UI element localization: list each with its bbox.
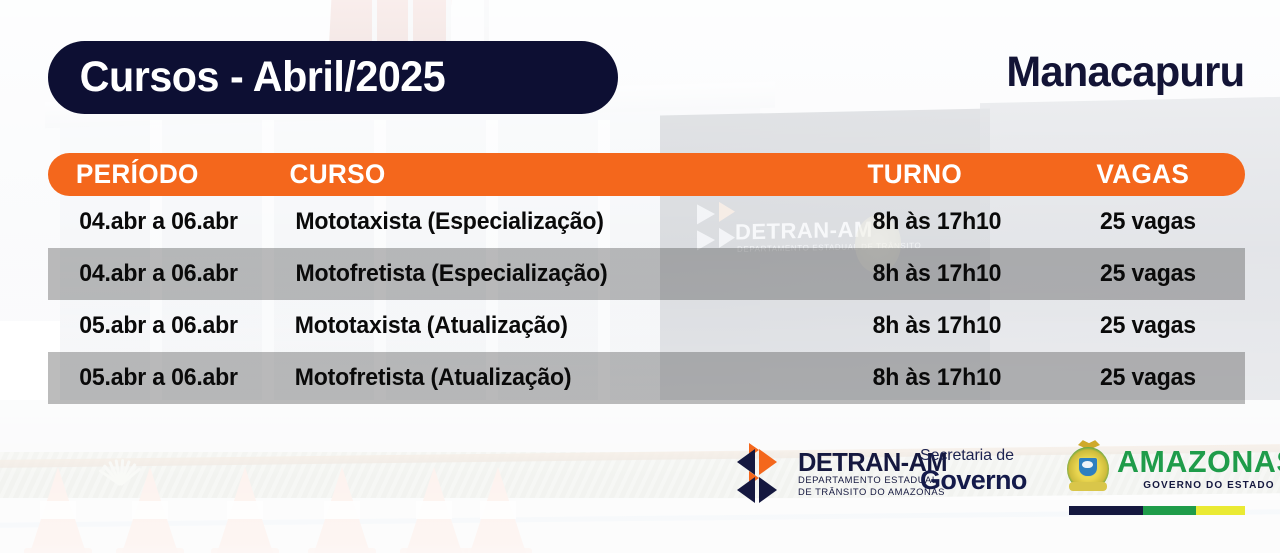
amazonas-logo-name: AMAZONAS bbox=[1117, 446, 1280, 477]
cell-curso: Motofretista (Atualização) bbox=[295, 352, 572, 404]
detran-am-logo: DETRAN-AM DEPARTAMENTO ESTADUAL DE TRÂNS… bbox=[735, 443, 950, 505]
cell-periodo: 05.abr a 06.abr bbox=[79, 352, 238, 404]
cell-curso: Motofretista (Especialização) bbox=[295, 248, 607, 300]
cell-turno: 8h às 17h10 bbox=[873, 300, 1002, 352]
cell-vagas: 25 vagas bbox=[1100, 352, 1196, 404]
amazonas-coat-of-arms-icon bbox=[1063, 439, 1113, 497]
cell-turno: 8h às 17h10 bbox=[873, 248, 1002, 300]
cell-turno: 8h às 17h10 bbox=[873, 352, 1002, 404]
cell-periodo: 04.abr a 06.abr bbox=[79, 196, 238, 248]
column-header-vagas: VAGAS bbox=[1096, 153, 1189, 196]
amazonas-government-logo: AMAZONAS GOVERNO DO ESTADO bbox=[1063, 439, 1245, 515]
table-row: 04.abr a 06.abr Mototaxista (Especializa… bbox=[48, 196, 1245, 248]
city-name: Manacapuru bbox=[1006, 48, 1244, 97]
cell-curso: Mototaxista (Atualização) bbox=[295, 300, 568, 352]
detran-arrow-marks-icon bbox=[735, 443, 795, 505]
title-pill: Cursos - Abril/2025 bbox=[48, 41, 618, 114]
cell-vagas: 25 vagas bbox=[1100, 300, 1196, 352]
column-header-curso: CURSO bbox=[289, 153, 385, 196]
cell-curso: Mototaxista (Especialização) bbox=[295, 196, 603, 248]
secretaria-line2: Governo bbox=[920, 466, 1027, 494]
cell-vagas: 25 vagas bbox=[1100, 196, 1196, 248]
column-header-periodo: PERÍODO bbox=[76, 153, 199, 196]
table-row: 05.abr a 06.abr Motofretista (Atualizaçã… bbox=[48, 352, 1245, 404]
column-header-turno: TURNO bbox=[867, 153, 962, 196]
page-title: Cursos - Abril/2025 bbox=[48, 53, 445, 102]
cell-periodo: 04.abr a 06.abr bbox=[79, 248, 238, 300]
courses-table: PERÍODO CURSO TURNO VAGAS 04.abr a 06.ab… bbox=[48, 153, 1245, 404]
amazonas-logo-sub: GOVERNO DO ESTADO bbox=[1117, 480, 1280, 491]
footer-logos: DETRAN-AM DEPARTAMENTO ESTADUAL DE TRÂNS… bbox=[0, 439, 1280, 519]
secretaria-governo-logo: Secretaria de Governo bbox=[920, 447, 1027, 494]
table-row: 05.abr a 06.abr Mototaxista (Atualização… bbox=[48, 300, 1245, 352]
cell-turno: 8h às 17h10 bbox=[873, 196, 1002, 248]
amazonas-color-bars bbox=[1069, 506, 1245, 515]
secretaria-line1: Secretaria de bbox=[920, 447, 1027, 465]
cell-vagas: 25 vagas bbox=[1100, 248, 1196, 300]
table-row: 04.abr a 06.abr Motofretista (Especializ… bbox=[48, 248, 1245, 300]
cell-periodo: 05.abr a 06.abr bbox=[79, 300, 238, 352]
table-header-row: PERÍODO CURSO TURNO VAGAS bbox=[48, 153, 1245, 196]
